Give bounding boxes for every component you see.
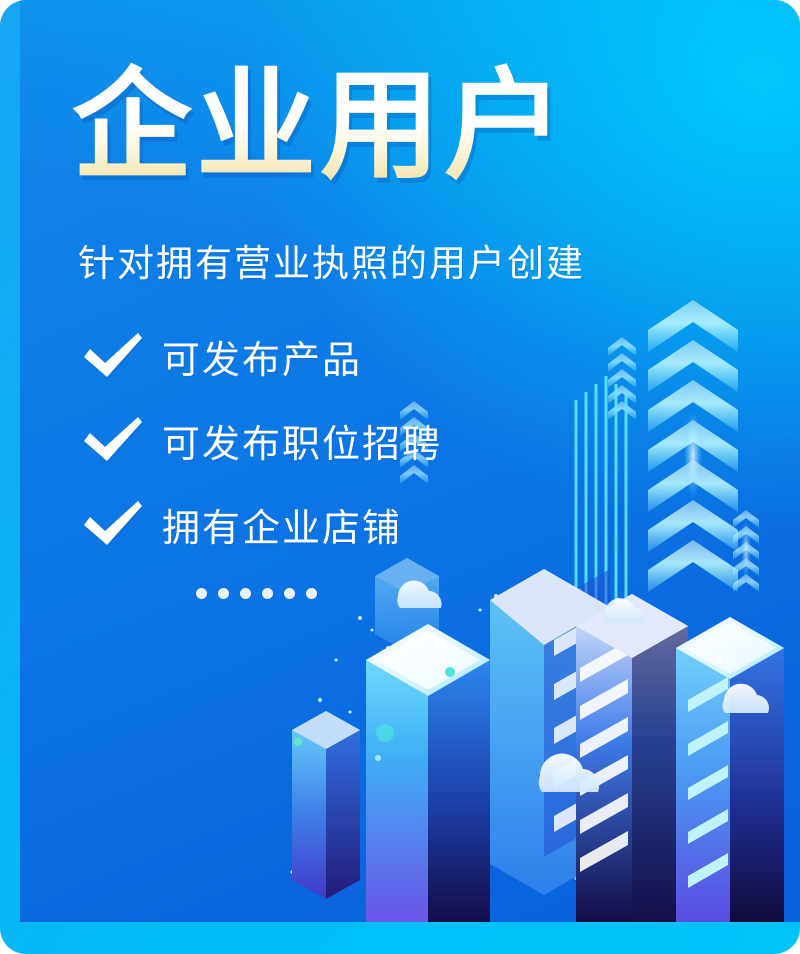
ellipsis-dot xyxy=(306,588,317,599)
feature-list: 可发布产品 可发布职位招聘 拥有 xyxy=(80,320,442,572)
list-item-label: 拥有企业店铺 xyxy=(162,497,402,552)
list-item: 拥有企业店铺 xyxy=(80,488,442,560)
page-subtitle: 针对拥有营业执照的用户创建 xyxy=(78,233,585,287)
ellipsis-dot xyxy=(196,588,207,599)
more-indicator xyxy=(196,588,317,599)
ellipsis-dot xyxy=(218,588,229,599)
check-icon xyxy=(80,331,146,381)
list-item-label: 可发布产品 xyxy=(162,329,362,384)
list-item-label: 可发布职位招聘 xyxy=(162,413,442,468)
ellipsis-dot xyxy=(262,588,273,599)
ellipsis-dot xyxy=(284,588,295,599)
check-icon xyxy=(80,415,146,465)
card-content: 企业用户 针对拥有营业执照的用户创建 可发布产品 xyxy=(20,0,800,922)
list-item: 可发布职位招聘 xyxy=(80,404,442,476)
ellipsis-dot xyxy=(240,588,251,599)
card-panel: 企业用户 针对拥有营业执照的用户创建 可发布产品 xyxy=(20,0,800,922)
enterprise-user-card[interactable]: 企业用户 针对拥有营业执照的用户创建 可发布产品 xyxy=(0,0,800,954)
list-item: 可发布产品 xyxy=(80,320,442,392)
check-icon xyxy=(80,499,146,549)
page-title: 企业用户 xyxy=(72,62,568,192)
